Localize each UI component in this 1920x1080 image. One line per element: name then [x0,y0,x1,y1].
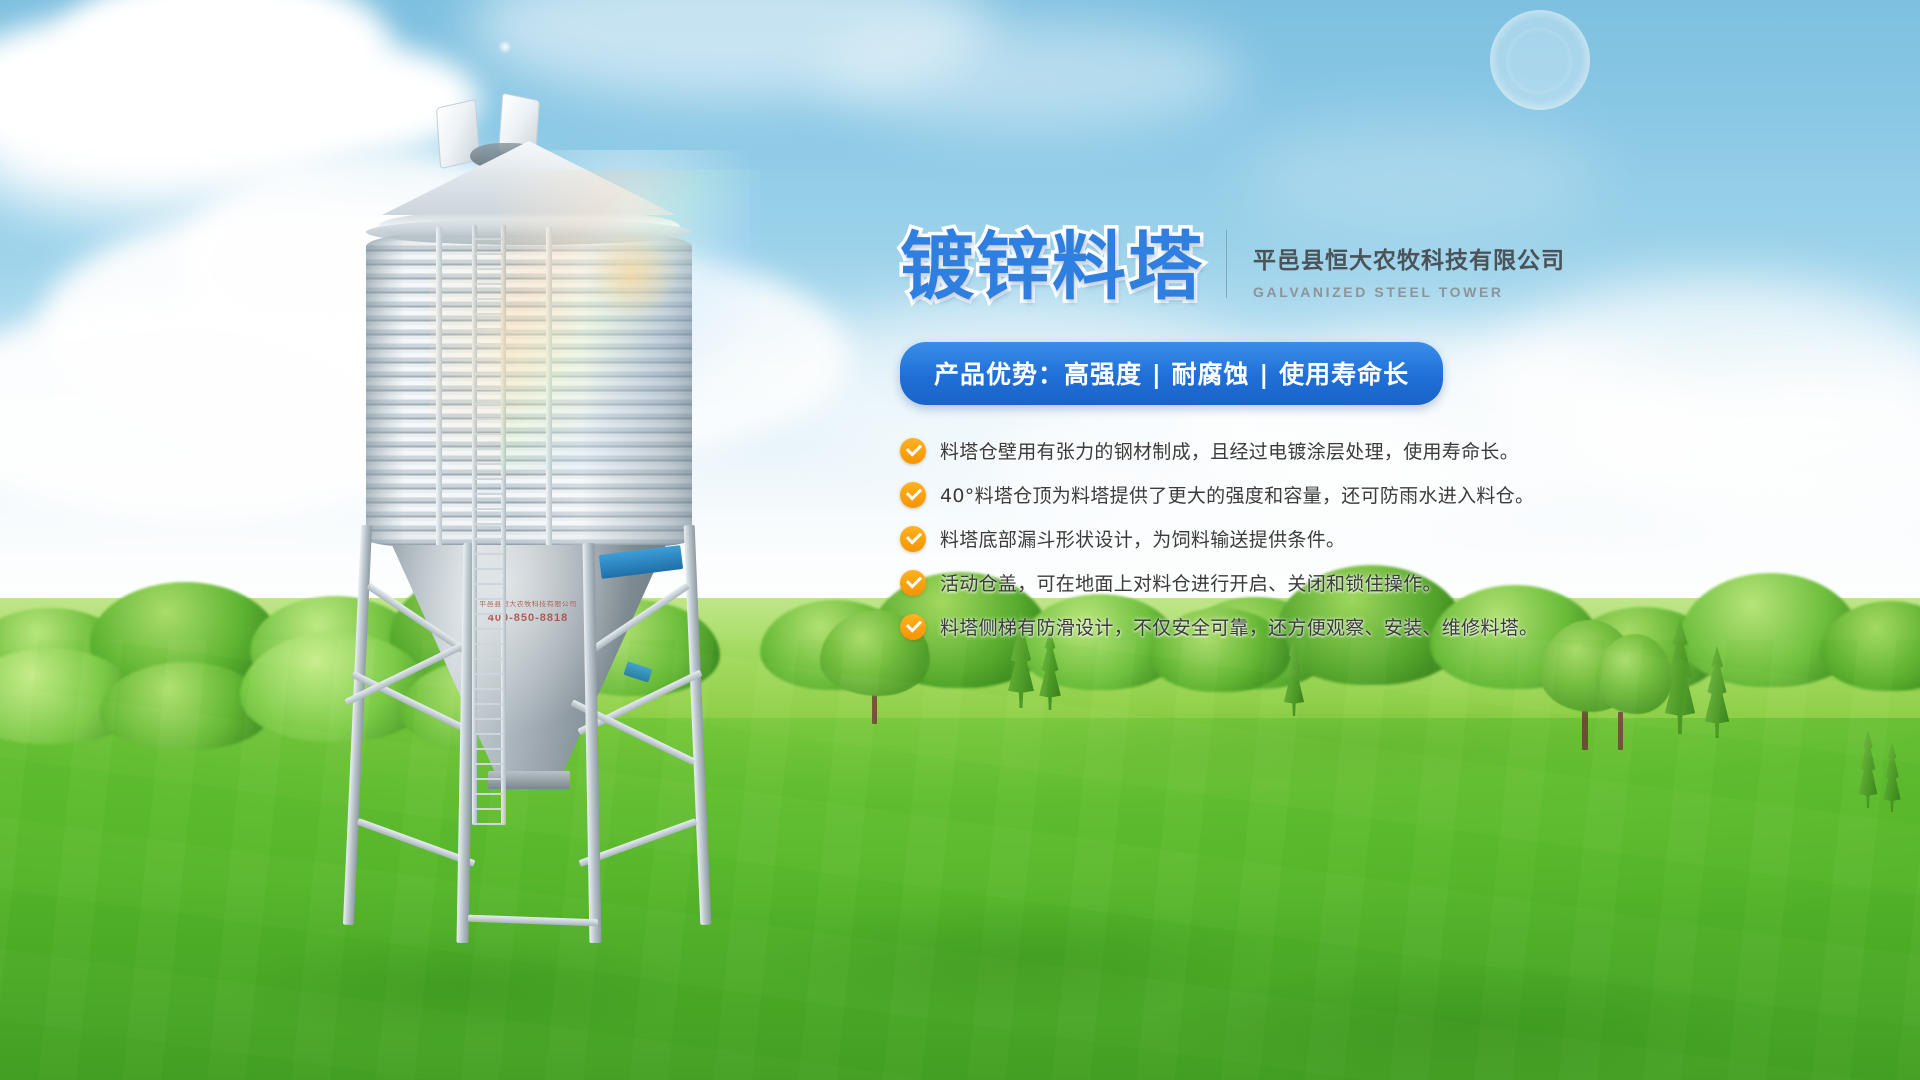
silo-cross-brace [351,671,471,734]
banner-stage: 平邑县恒大农牧科技有限公司 400-850-8818 镀锌料塔 [0,0,1920,1080]
cloud [1240,120,1600,230]
ladder-rungs [475,225,503,825]
check-circle-icon [900,570,926,596]
check-circle-icon [900,438,926,464]
company-subtitle: GALVANIZED STEEL TOWER [1253,284,1565,300]
check-circle-icon [900,482,926,508]
feature-list: 料塔仓壁用有张力的钢材制成，且经过电镀涂层处理，使用寿命长。 40°料塔仓顶为料… [900,437,1600,640]
title-divider [1226,230,1227,298]
company-name: 平邑县恒大农牧科技有限公司 [1253,241,1565,275]
silo-body-top-rim [366,219,692,245]
check-circle-icon [900,614,926,640]
feature-text: 活动仓盖，可在地面上对料仓进行开启、关闭和锁住操作。 [940,569,1442,596]
silo-vertical-seam [436,227,442,557]
list-item: 料塔底部漏斗形状设计，为饲料输送提供条件。 [900,525,1600,552]
lens-flare-dot-icon [498,40,512,54]
list-item: 活动仓盖，可在地面上对料仓进行开启、关闭和锁住操作。 [900,569,1600,596]
list-item: 料塔侧梯有防滑设计，不仅安全可靠，还方便观察、安装、维修料塔。 [900,613,1600,640]
silo-blue-fitting [623,661,652,682]
page-title: 镀锌料塔 [900,230,1204,304]
silo-side-ladder [472,225,506,825]
silo-cross-brace [468,915,598,927]
lawn-patch [980,700,1680,790]
list-item: 40°料塔仓顶为料塔提供了更大的强度和容量，还可防雨水进入料仓。 [900,481,1600,508]
title-row: 镀锌料塔 平邑县恒大农牧科技有限公司 GALVANIZED STEEL TOWE… [900,230,1600,304]
banner-text-content: 镀锌料塔 平邑县恒大农牧科技有限公司 GALVANIZED STEEL TOWE… [900,230,1600,657]
feature-text: 料塔底部漏斗形状设计，为饲料输送提供条件。 [940,525,1345,552]
list-item: 料塔仓壁用有张力的钢材制成，且经过电镀涂层处理，使用寿命长。 [900,437,1600,464]
lens-flare-ring-inner-icon [1506,28,1572,94]
company-block: 平邑县恒大农牧科技有限公司 GALVANIZED STEEL TOWER [1253,241,1565,304]
feature-text: 料塔侧梯有防滑设计，不仅安全可靠，还方便观察、安装、维修料塔。 [940,613,1538,640]
silo-vertical-seam [546,227,552,557]
check-circle-icon [900,526,926,552]
cloud [820,20,1240,130]
advantage-badge: 产品优势：高强度 | 耐腐蚀 | 使用寿命长 [900,342,1443,405]
silo-corrugated-body [366,227,692,552]
lawn-shading [0,880,1920,1080]
galvanized-feed-silo-image: 平邑县恒大农牧科技有限公司 400-850-8818 [340,95,720,925]
feature-text: 40°料塔仓顶为料塔提供了更大的强度和容量，还可防雨水进入料仓。 [940,481,1534,508]
feature-text: 料塔仓壁用有张力的钢材制成，且经过电镀涂层处理，使用寿命长。 [940,437,1519,464]
